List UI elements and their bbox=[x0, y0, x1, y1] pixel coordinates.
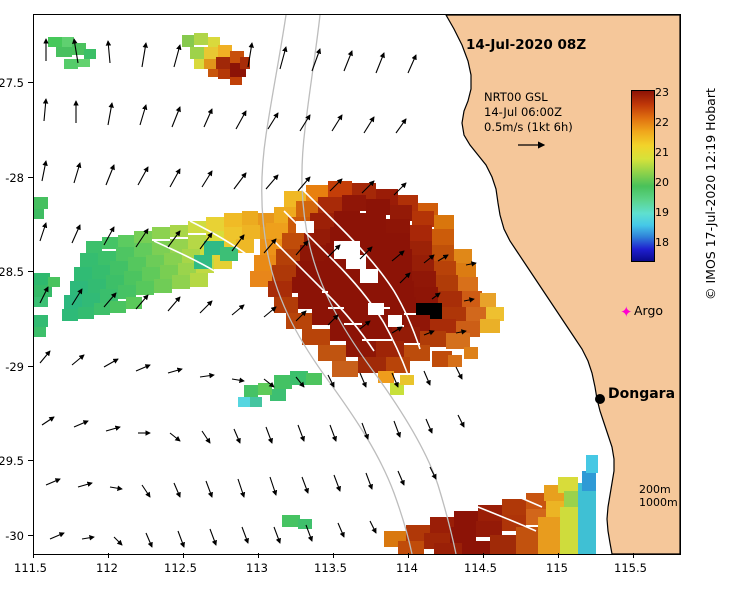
product-name: NRT00 GSL bbox=[484, 90, 573, 105]
y-tick-label: -30 bbox=[0, 529, 24, 543]
product-time: 14-Jul 06:00Z bbox=[484, 105, 573, 120]
depth-legend: 200m 1000m bbox=[639, 483, 678, 509]
y-tick-label: -28 bbox=[0, 171, 24, 185]
colorbar-tick-20: 20 bbox=[655, 176, 669, 189]
colorbar bbox=[631, 90, 655, 262]
x-tick-label: 114.5 bbox=[464, 561, 497, 575]
x-tick-label: 113.5 bbox=[314, 561, 347, 575]
x-tick-mark bbox=[408, 553, 409, 558]
y-tick-mark bbox=[28, 535, 33, 536]
y-tick-mark bbox=[28, 271, 33, 272]
argo-marker-icon: ✦ bbox=[620, 307, 633, 317]
x-tick-mark bbox=[633, 553, 634, 558]
depth-legend-1000m: 1000m bbox=[639, 496, 678, 509]
map-date-label: 14-Jul-2020 08Z bbox=[466, 37, 586, 53]
x-tick-label: 113 bbox=[246, 561, 268, 575]
colorbar-title: 4h comp, p50, All Sats bbox=[680, 93, 681, 222]
y-tick-mark bbox=[28, 366, 33, 367]
reference-arrow-icon bbox=[517, 140, 551, 150]
x-tick-label: 114 bbox=[396, 561, 418, 575]
colorbar-tick-22: 22 bbox=[655, 116, 669, 129]
map-graphics bbox=[34, 15, 680, 554]
x-tick-label: 112 bbox=[96, 561, 118, 575]
map-figure: 14-Jul-2020 08Z NRT00 GSL 14-Jul 06:00Z … bbox=[0, 0, 739, 592]
dongara-marker-icon bbox=[595, 394, 605, 404]
argo-label: Argo bbox=[634, 303, 663, 318]
product-speed-scale: 0.5m/s (1kt 6h) bbox=[484, 120, 573, 135]
x-tick-label: 115.5 bbox=[614, 561, 647, 575]
depth-legend-200m: 200m bbox=[639, 483, 678, 496]
x-tick-mark bbox=[483, 553, 484, 558]
product-info-block: NRT00 GSL 14-Jul 06:00Z 0.5m/s (1kt 6h) bbox=[484, 90, 573, 135]
dongara-label: Dongara bbox=[608, 386, 675, 402]
y-tick-mark bbox=[28, 82, 33, 83]
colorbar-tick-18: 18 bbox=[655, 236, 669, 249]
x-tick-mark bbox=[258, 553, 259, 558]
x-tick-label: 115 bbox=[546, 561, 568, 575]
x-tick-label: 111.5 bbox=[14, 561, 47, 575]
x-tick-label: 112.5 bbox=[164, 561, 197, 575]
x-tick-mark bbox=[33, 553, 34, 558]
colorbar-tick-23: 23 bbox=[655, 86, 669, 99]
x-tick-mark bbox=[558, 553, 559, 558]
y-tick-label: -29 bbox=[0, 360, 24, 374]
map-canvas[interactable]: 14-Jul-2020 08Z NRT00 GSL 14-Jul 06:00Z … bbox=[33, 14, 681, 555]
colorbar-tick-19: 19 bbox=[655, 206, 669, 219]
y-tick-label: -28.5 bbox=[0, 265, 24, 279]
y-tick-mark bbox=[28, 177, 33, 178]
y-tick-mark bbox=[28, 460, 33, 461]
x-tick-mark bbox=[333, 553, 334, 558]
copyright-label: © IMOS 17-Jul-2020 12:19 Hobart bbox=[703, 88, 718, 300]
y-tick-label: -29.5 bbox=[0, 454, 24, 468]
colorbar-tick-21: 21 bbox=[655, 146, 669, 159]
x-tick-mark bbox=[108, 553, 109, 558]
y-tick-label: -27.5 bbox=[0, 76, 24, 90]
x-tick-mark bbox=[183, 553, 184, 558]
